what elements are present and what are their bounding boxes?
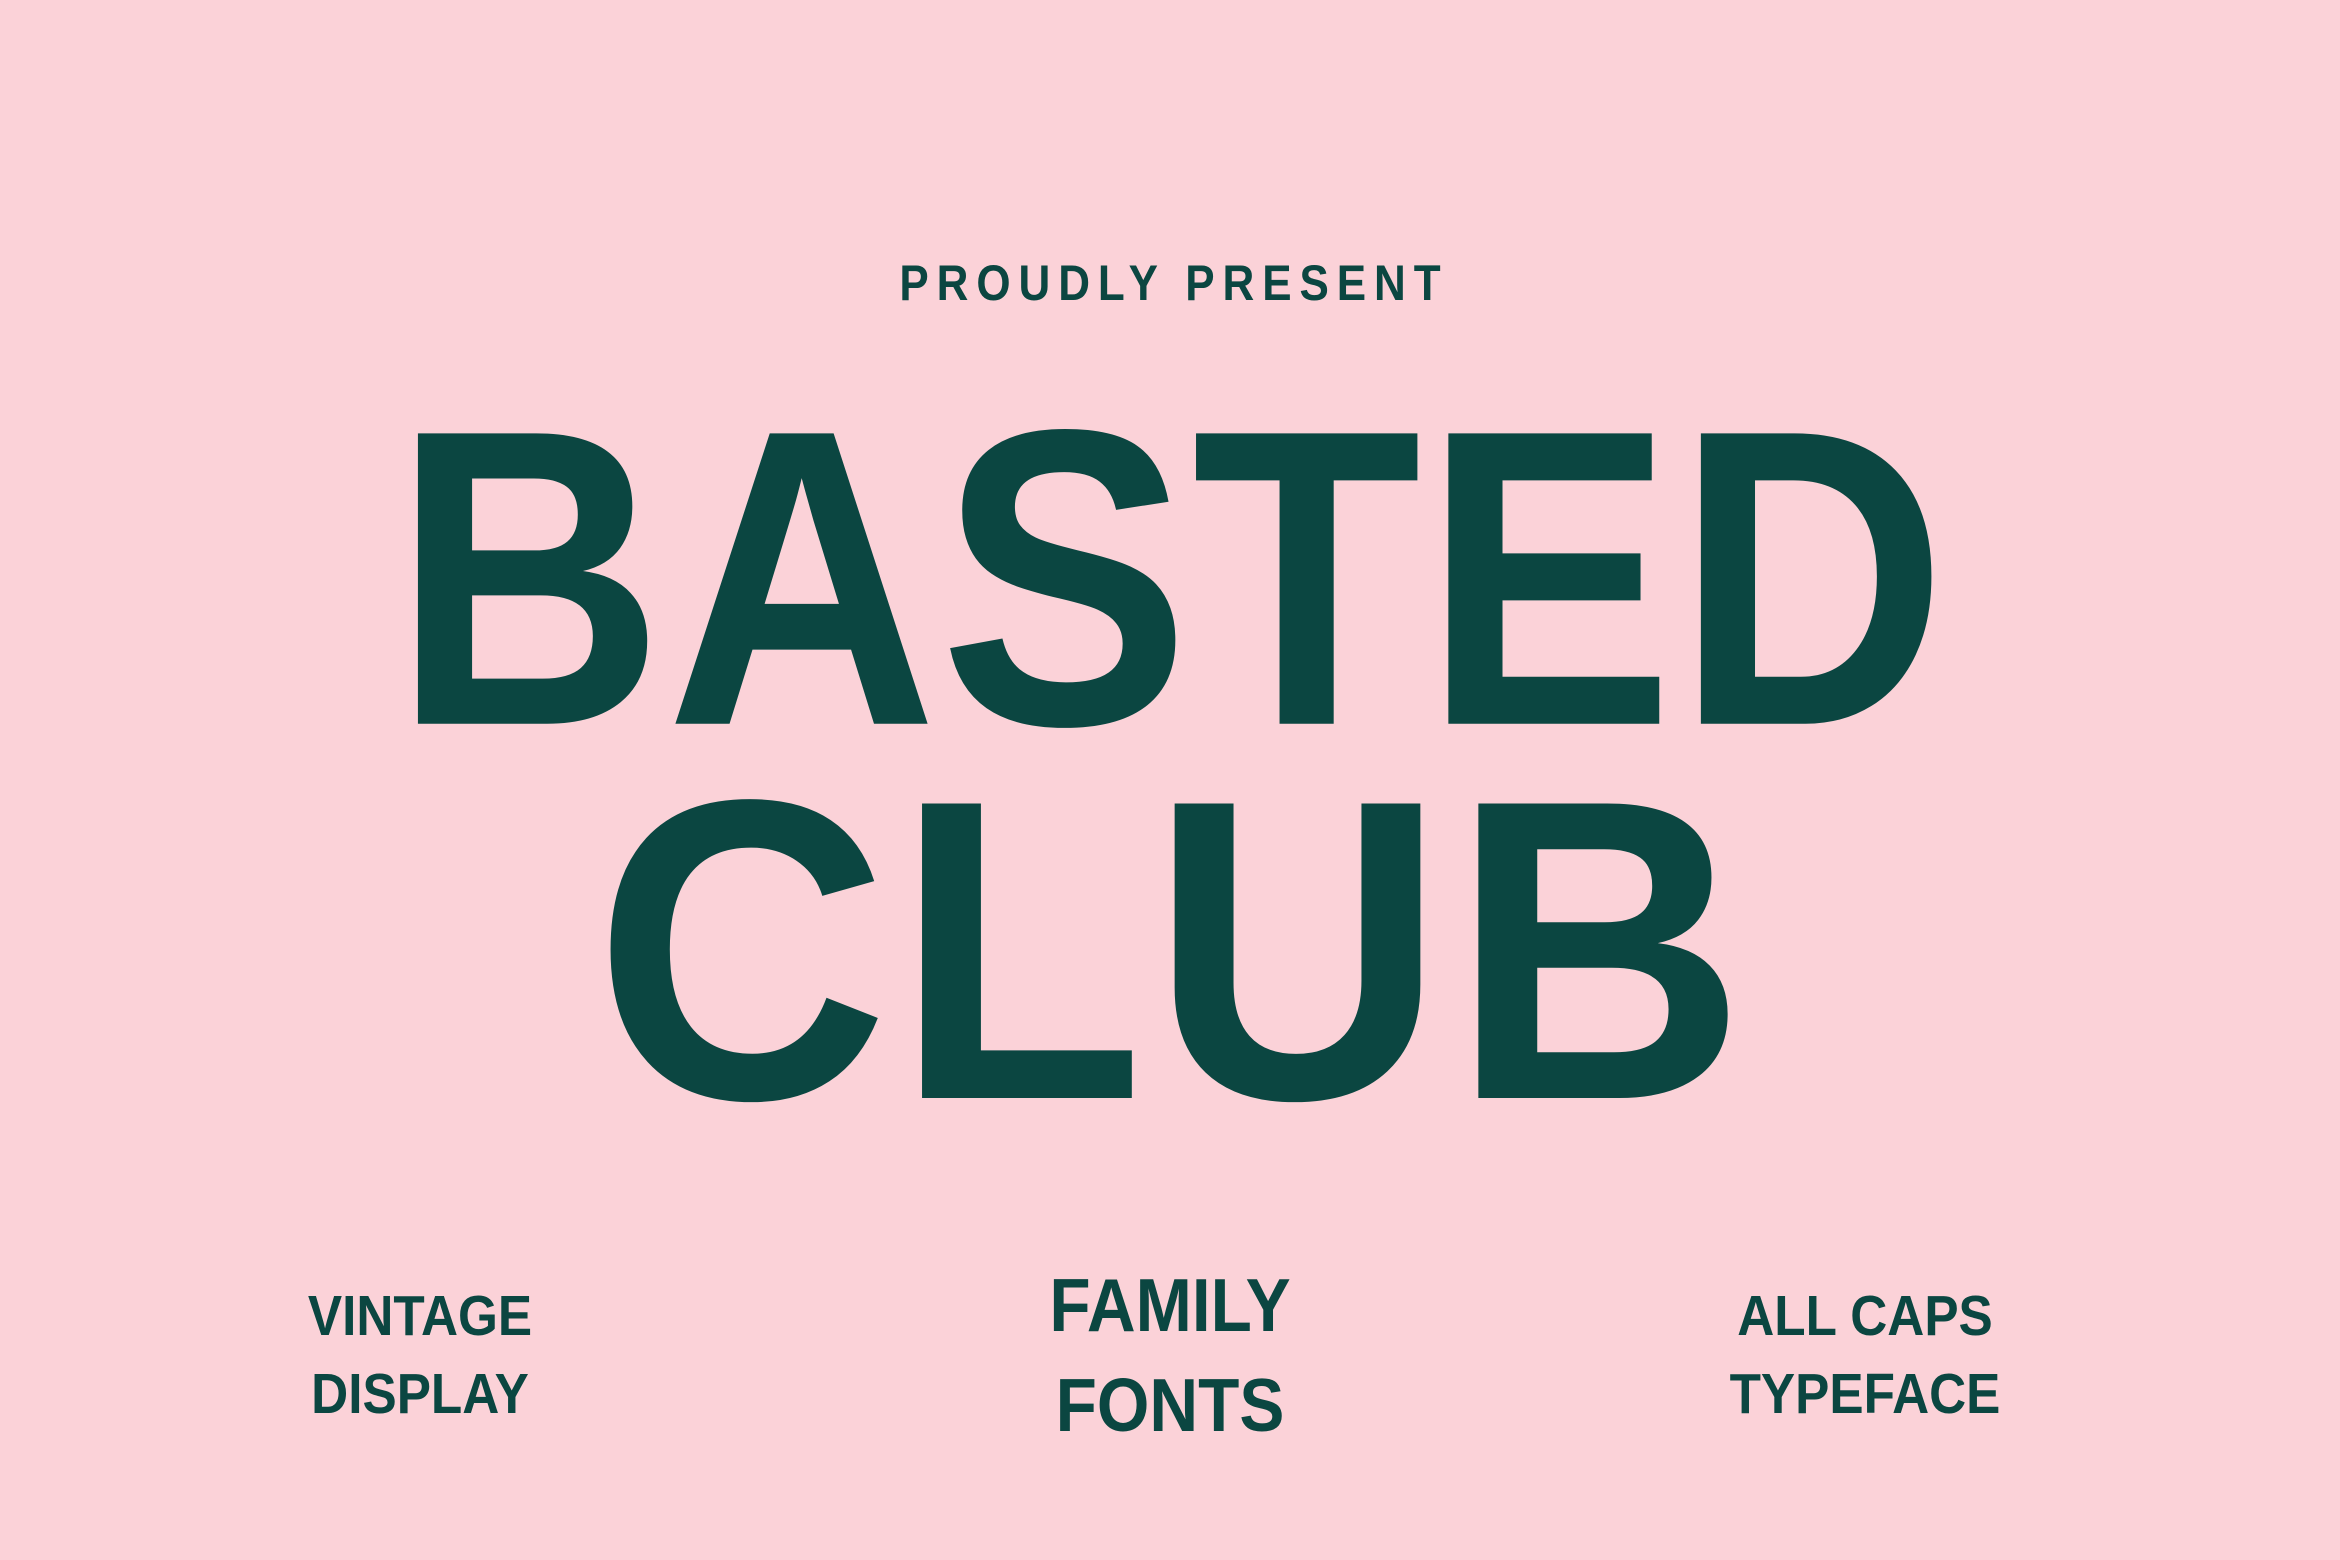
feature-label-vintage-display: VINTAGE DISPLAY [220,1268,620,1423]
feature-left-line2: DISPLAY [240,1366,600,1423]
feature-right-line1: ALL CAPS [1685,1288,2045,1345]
feature-center-line1: FAMILY [990,1268,1350,1343]
feature-left-line1: VINTAGE [240,1288,600,1345]
feature-right-line2: TYPEFACE [1685,1366,2045,1423]
wordmark-line-basted: BASTED [123,368,2217,790]
feature-label-all-caps-typeface: ALL CAPS TYPEFACE [1665,1268,2065,1423]
feature-labels: VINTAGE DISPLAY FAMILY FONTS ALL CAPS TY… [0,1268,2340,1498]
kicker-text: PROUDLY PRESENT [140,258,2199,308]
feature-label-family-fonts: FAMILY FONTS [970,1268,1370,1443]
wordmark-line-club: CLUB [53,736,2288,1164]
font-specimen-poster: PROUDLY PRESENT BASTED CLUB VINTAGE DISP… [0,0,2340,1560]
feature-center-line2: FONTS [990,1368,1350,1443]
